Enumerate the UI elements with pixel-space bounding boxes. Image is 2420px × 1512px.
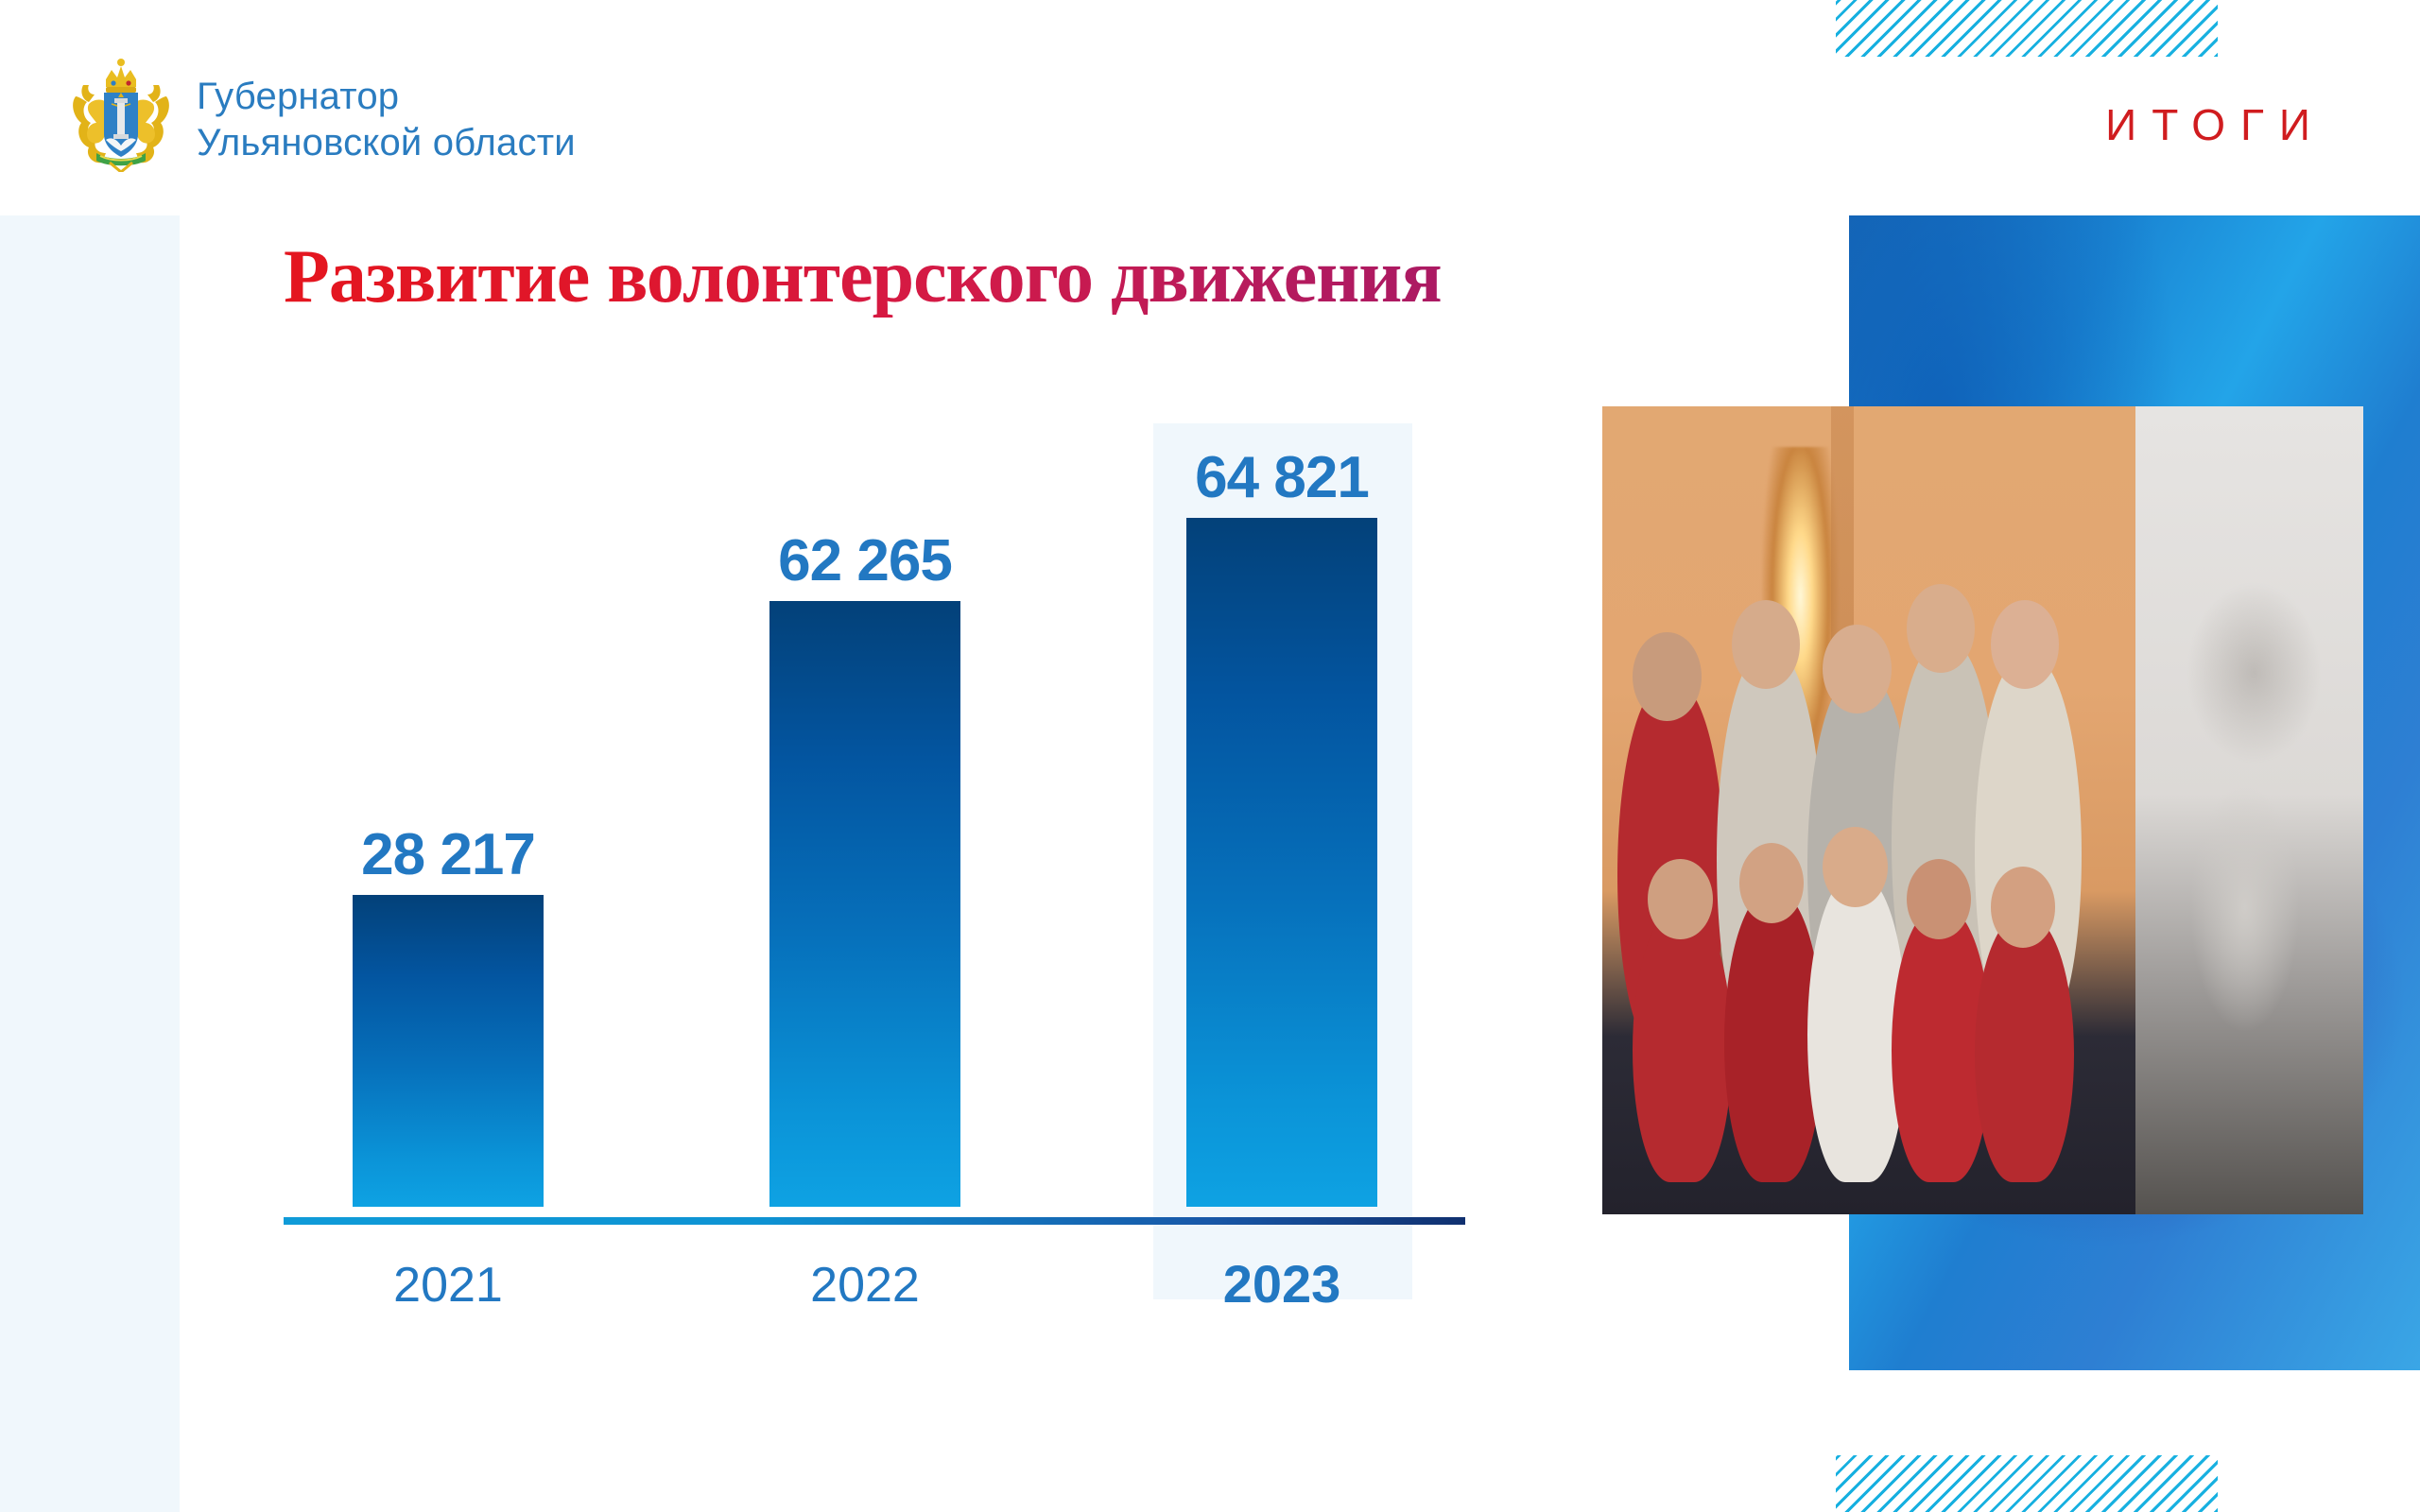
person-head (1739, 843, 1804, 924)
bar-chart: Развитие волонтерского движения 28 217 6… (0, 0, 1607, 1512)
x-axis-label-2023: 2023 (1186, 1253, 1377, 1314)
bar-2021 (353, 895, 544, 1207)
person-head (1991, 867, 2055, 948)
bar-value-2022: 62 265 (769, 527, 960, 594)
person-head (1648, 859, 1712, 940)
person-shape (1975, 916, 2074, 1182)
person-head (1633, 632, 1701, 721)
photo-grayscale-strip (2135, 406, 2364, 1214)
organization-title: Губернатор Ульяновской области (197, 74, 576, 166)
hatch-decoration-bottom (1836, 1455, 2218, 1512)
org-title-line1: Губернатор (197, 76, 399, 117)
x-axis-label-2021: 2021 (353, 1257, 544, 1314)
section-label: ИТОГИ (2105, 99, 2325, 150)
slide-root: Губернатор Ульяновской области ИТОГИ Раз… (0, 0, 2420, 1512)
person-head (1823, 625, 1891, 713)
person-head (1991, 600, 2059, 689)
hatch-decoration-top (1836, 0, 2218, 57)
person-shape (1633, 907, 1732, 1182)
axis-baseline (284, 1217, 1465, 1225)
person-head (1732, 600, 1800, 689)
person-head (1823, 827, 1887, 908)
bar-value-2021: 28 217 (353, 821, 544, 888)
person-head (1907, 584, 1975, 673)
volunteers-photo (1602, 406, 2363, 1214)
bar-2022 (769, 601, 960, 1207)
bar-value-2023: 64 821 (1186, 444, 1377, 511)
org-title-line2: Ульяновской области (197, 120, 576, 166)
page-title: Развитие волонтерского движения (284, 234, 1442, 320)
x-axis-label-2022: 2022 (769, 1257, 960, 1314)
bar-2023 (1186, 518, 1377, 1207)
coat-of-arms-icon (68, 55, 174, 172)
